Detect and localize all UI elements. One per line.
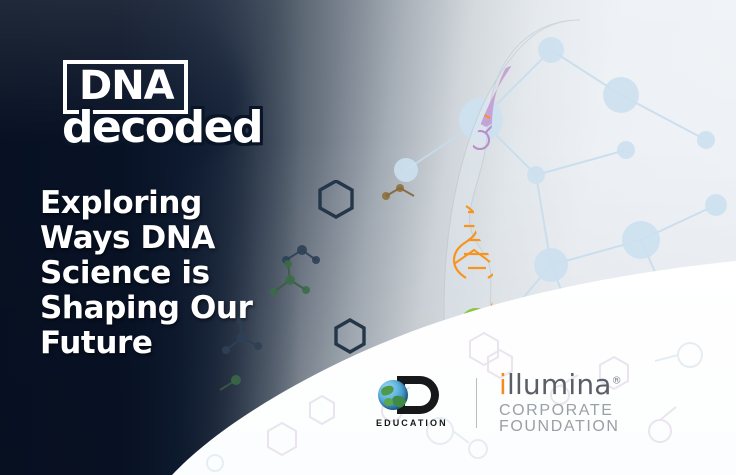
logo-divider — [476, 378, 477, 428]
illumina-wordmark: illumina® — [499, 371, 736, 399]
headline-line: Future — [40, 326, 290, 361]
dna-text: DNA — [79, 66, 174, 106]
registered-trademark-icon: ® — [612, 376, 622, 387]
discovery-education-mark — [374, 374, 452, 414]
globe-icon — [378, 380, 408, 410]
illumina-i-letter: i — [499, 368, 507, 401]
decoded-text: decoded — [62, 106, 262, 150]
illumina-subtitle: CORPORATE FOUNDATION — [499, 403, 736, 435]
education-wordmark: EDUCATION — [376, 418, 448, 428]
page-title: Exploring Ways DNA Science is Shaping Ou… — [40, 186, 290, 361]
headline-line: Science is — [40, 256, 290, 291]
footer-logo-row: EDUCATION illumina® CORPORATE FOUNDATION — [374, 371, 736, 435]
illumina-logo[interactable]: illumina® CORPORATE FOUNDATION — [499, 371, 736, 435]
illumina-rest-letters: llumina — [507, 368, 612, 401]
poster-banner: DNA decoded Exploring Ways DNA Science i… — [0, 0, 736, 475]
discovery-education-logo[interactable]: EDUCATION — [374, 374, 452, 432]
headline-line: Shaping Our — [40, 291, 290, 326]
headline-line: Ways DNA — [40, 221, 290, 256]
globe-landmass — [384, 398, 393, 406]
headline-line: Exploring — [40, 186, 290, 221]
brand-logo: DNA decoded — [63, 60, 263, 114]
